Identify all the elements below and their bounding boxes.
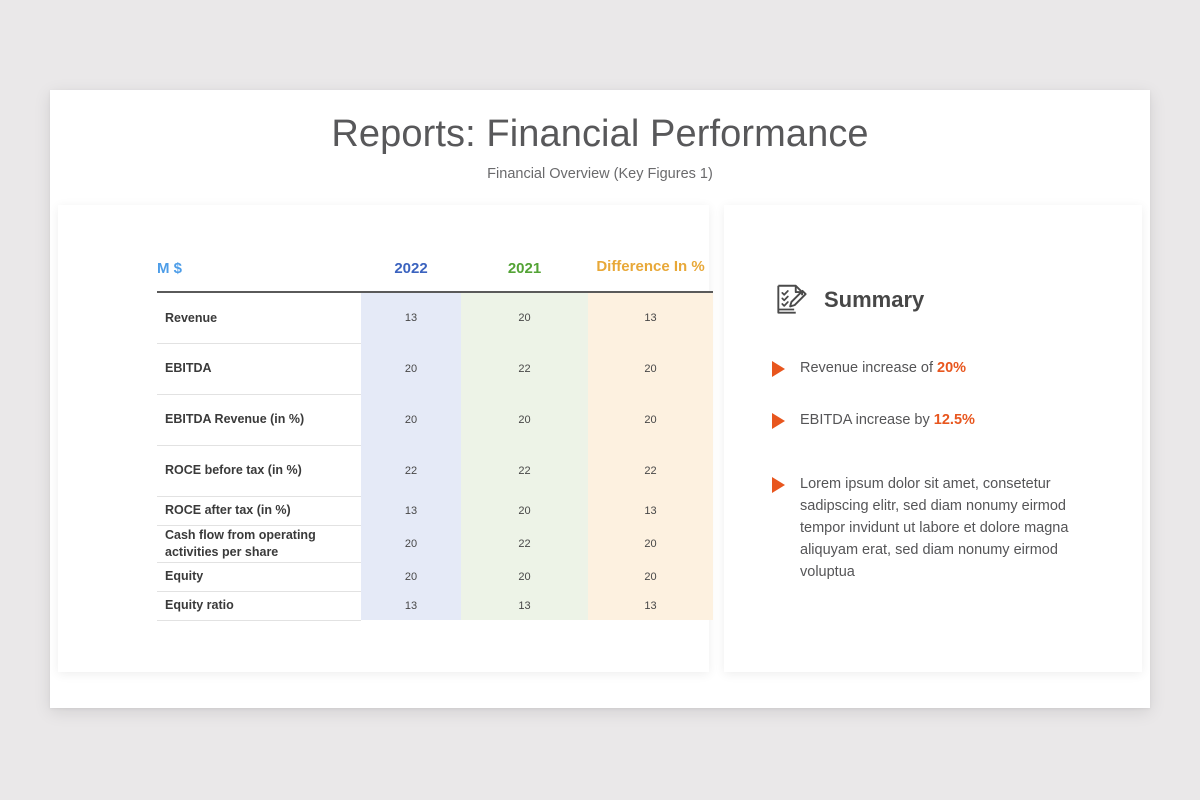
- cell-2021: 13: [461, 591, 588, 620]
- bullet-text: Lorem ipsum dolor sit amet, consetetur s…: [800, 473, 1102, 583]
- bullet-text: Revenue increase of 20%: [800, 357, 966, 379]
- cell-2022: 13: [361, 496, 461, 525]
- slide-header: Reports: Financial Performance Financial…: [50, 90, 1150, 205]
- list-item: Lorem ipsum dolor sit amet, consetetur s…: [772, 473, 1102, 583]
- table-row: Revenue 13 20 13: [157, 292, 713, 343]
- cell-difference: 20: [588, 525, 713, 562]
- column-header-difference: Difference In %: [588, 230, 713, 292]
- table-row: Equity ratio 13 13 13: [157, 591, 713, 620]
- cell-2021: 22: [461, 343, 588, 394]
- cell-difference: 20: [588, 562, 713, 591]
- summary-title: Summary: [824, 287, 924, 313]
- financial-table: M $ 2022 2021 Difference In % Revenue 13…: [157, 230, 713, 621]
- list-item: EBITDA increase by 12.5%: [772, 409, 1102, 431]
- row-label: Cash flow from operating activities per …: [157, 525, 361, 562]
- cell-2021: 20: [461, 562, 588, 591]
- list-item: Revenue increase of 20%: [772, 357, 1102, 379]
- cell-2022: 13: [361, 591, 461, 620]
- column-header-unit: M $: [157, 230, 361, 292]
- arrow-right-icon: [772, 477, 786, 493]
- cell-2021: 22: [461, 445, 588, 496]
- cell-2022: 20: [361, 394, 461, 445]
- table-row: Cash flow from operating activities per …: [157, 525, 713, 562]
- cell-difference: 20: [588, 343, 713, 394]
- cell-2022: 20: [361, 525, 461, 562]
- cell-2021: 20: [461, 496, 588, 525]
- row-label: ROCE before tax (in %): [157, 445, 361, 496]
- summary-header: Summary: [772, 281, 1102, 319]
- cell-difference: 22: [588, 445, 713, 496]
- cell-difference: 20: [588, 394, 713, 445]
- screenshot-canvas: Reports: Financial Performance Financial…: [0, 0, 1200, 800]
- financial-table-wrapper: M $ 2022 2021 Difference In % Revenue 13…: [157, 230, 713, 621]
- checklist-pencil-icon: [772, 281, 810, 319]
- presentation-slide: Reports: Financial Performance Financial…: [50, 90, 1150, 708]
- row-label: Equity: [157, 562, 361, 591]
- cell-difference: 13: [588, 292, 713, 343]
- row-label: Equity ratio: [157, 591, 361, 620]
- cell-2022: 20: [361, 343, 461, 394]
- table-row: EBITDA Revenue (in %) 20 20 20: [157, 394, 713, 445]
- row-label: EBITDA Revenue (in %): [157, 394, 361, 445]
- table-row: EBITDA 20 22 20: [157, 343, 713, 394]
- cell-difference: 13: [588, 591, 713, 620]
- cell-2021: 20: [461, 292, 588, 343]
- cell-2022: 20: [361, 562, 461, 591]
- bullet-highlight-value: 20%: [937, 360, 966, 376]
- column-header-2022: 2022: [361, 230, 461, 292]
- bullet-text-prefix: Revenue increase of: [800, 360, 937, 376]
- table-body: Revenue 13 20 13 EBITDA 20 22 20 EBI: [157, 292, 713, 620]
- bullet-text: EBITDA increase by 12.5%: [800, 409, 975, 431]
- arrow-right-icon: [772, 413, 786, 429]
- table-row: ROCE after tax (in %) 13 20 13: [157, 496, 713, 525]
- cell-2021: 20: [461, 394, 588, 445]
- cell-2022: 13: [361, 292, 461, 343]
- bullet-text-prefix: EBITDA increase by: [800, 412, 934, 428]
- cell-2022: 22: [361, 445, 461, 496]
- cell-difference: 13: [588, 496, 713, 525]
- cell-2021: 22: [461, 525, 588, 562]
- page-title: Reports: Financial Performance: [50, 114, 1150, 156]
- table-row: Equity 20 20 20: [157, 562, 713, 591]
- table-header: M $ 2022 2021 Difference In %: [157, 230, 713, 292]
- bullet-highlight-value: 12.5%: [934, 412, 975, 428]
- financial-table-card: M $ 2022 2021 Difference In % Revenue 13…: [58, 205, 709, 672]
- row-label: EBITDA: [157, 343, 361, 394]
- summary-card: Summary Revenue increase of 20% EBITDA i…: [724, 205, 1142, 672]
- table-header-row: M $ 2022 2021 Difference In %: [157, 230, 713, 292]
- table-row: ROCE before tax (in %) 22 22 22: [157, 445, 713, 496]
- row-label: Revenue: [157, 292, 361, 343]
- row-label: ROCE after tax (in %): [157, 496, 361, 525]
- summary-bullet-list: Revenue increase of 20% EBITDA increase …: [772, 357, 1102, 583]
- column-header-2021: 2021: [461, 230, 588, 292]
- summary-panel: Summary Revenue increase of 20% EBITDA i…: [772, 281, 1102, 583]
- arrow-right-icon: [772, 361, 786, 377]
- page-subtitle: Financial Overview (Key Figures 1): [50, 166, 1150, 182]
